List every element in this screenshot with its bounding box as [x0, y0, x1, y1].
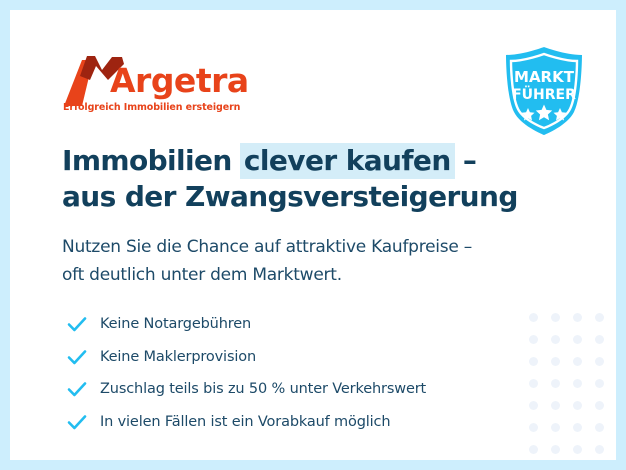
dot [595, 401, 604, 410]
feature-label: Keine Maklerprovision [100, 349, 256, 365]
dot [595, 379, 604, 388]
promo-card: Argetra Erfolgreich Immobilien ersteiger… [10, 10, 616, 460]
check-icon [66, 411, 88, 433]
logo-tagline: Erfolgreich Immobilien ersteigern [63, 102, 240, 113]
feature-label: Zuschlag teils bis zu 50 % unter Verkehr… [100, 381, 426, 397]
dot [551, 357, 560, 366]
dot [529, 423, 538, 432]
dot [595, 357, 604, 366]
dot [573, 335, 582, 344]
dot [573, 379, 582, 388]
dot [573, 313, 582, 322]
feature-label: Keine Notargebühren [100, 316, 251, 332]
badge-line2-text: FÜHRER [512, 85, 576, 103]
dot [573, 445, 582, 454]
list-item: Zuschlag teils bis zu 50 % unter Verkehr… [66, 373, 426, 406]
headline-highlight: clever kaufen [240, 143, 455, 179]
dot-grid-pattern [522, 306, 616, 460]
feature-list: Keine Notargebühren Keine Maklerprovisio… [66, 308, 426, 438]
dot [529, 357, 538, 366]
check-icon [66, 346, 88, 368]
list-item: Keine Maklerprovision [66, 341, 426, 374]
page-subheading: Nutzen Sie die Chance auf attraktive Kau… [62, 234, 562, 289]
dot [573, 401, 582, 410]
dot [573, 423, 582, 432]
market-leader-badge: MARKT FÜHRER [497, 44, 591, 138]
dot [595, 445, 604, 454]
dot [595, 335, 604, 344]
argetra-logo[interactable]: Argetra Erfolgreich Immobilien ersteiger… [62, 54, 262, 120]
logo-wordmark: Argetra [110, 64, 249, 97]
dot [529, 445, 538, 454]
dot [551, 335, 560, 344]
subheading-line-2: oft deutlich unter dem Marktwert. [62, 262, 562, 290]
dot [551, 401, 560, 410]
dot [551, 313, 560, 322]
headline-line-1: Immobilien clever kaufen – [62, 143, 542, 179]
dot [529, 335, 538, 344]
dot [529, 401, 538, 410]
dot [529, 313, 538, 322]
check-icon [66, 313, 88, 335]
dot [573, 357, 582, 366]
headline-part-before: Immobilien [62, 144, 241, 177]
list-item: Keine Notargebühren [66, 308, 426, 341]
dot [551, 379, 560, 388]
check-icon [66, 378, 88, 400]
dot [551, 423, 560, 432]
dot [595, 423, 604, 432]
dot [595, 313, 604, 322]
headline-part-after: – [454, 144, 477, 177]
subheading-line-1: Nutzen Sie die Chance auf attraktive Kau… [62, 234, 562, 262]
dot [551, 445, 560, 454]
dot [529, 379, 538, 388]
feature-label: In vielen Fällen ist ein Vorabkauf mögli… [100, 414, 390, 430]
list-item: In vielen Fällen ist ein Vorabkauf mögli… [66, 406, 426, 439]
page-headline: Immobilien clever kaufen – aus der Zwang… [62, 143, 542, 215]
badge-line1-text: MARKT [514, 68, 575, 86]
headline-line-2: aus der Zwangsversteigerung [62, 179, 542, 215]
